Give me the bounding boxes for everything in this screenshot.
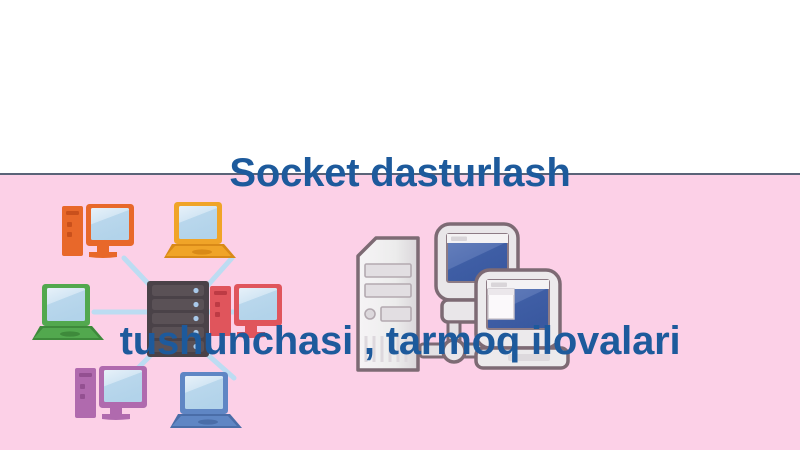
title-line-1: Socket dasturlash <box>0 145 800 201</box>
slide-canvas: Socket dasturlash tushunchasi , tarmoq i… <box>0 0 800 450</box>
page-title: Socket dasturlash tushunchasi , tarmoq i… <box>0 33 800 450</box>
title-line-2: tushunchasi , tarmoq ilovalari <box>0 313 800 369</box>
